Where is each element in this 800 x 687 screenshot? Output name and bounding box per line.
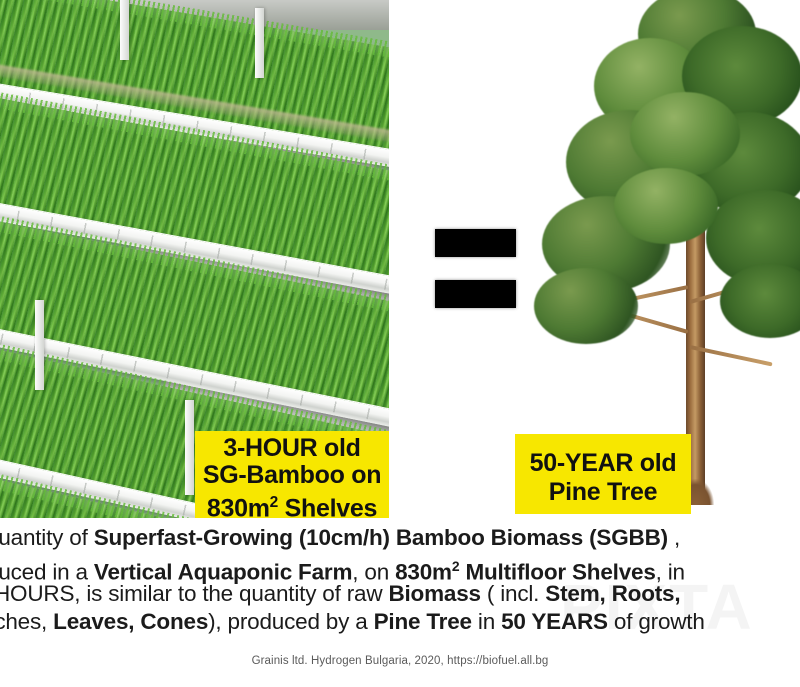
caption-l4-pre: nches, <box>0 609 53 634</box>
bamboo-callout-label: 3-HOUR old SG-Bamboo on 830m2 Shelves <box>195 431 389 518</box>
caption-line-4: nches, Leaves, Cones), produced by a Pin… <box>0 608 800 636</box>
shelf-post-2 <box>255 8 264 78</box>
caption-l4-mid-2: in <box>472 609 501 634</box>
caption-l1-post: , <box>668 525 680 550</box>
caption-l4-post: of growth <box>608 609 705 634</box>
bamboo-label-line-3: 830m2 Shelves <box>195 489 389 522</box>
pine-foliage-bottom-left <box>534 268 638 344</box>
pine-foliage-low-center <box>614 168 718 244</box>
caption-line-2: duced in a Vertical Aquaponic Farm, on 8… <box>0 552 800 580</box>
caption-l4-bold-3: 50 YEARS <box>501 609 608 634</box>
caption-l4-mid: ), produced by a <box>208 609 373 634</box>
bamboo-area-unit: m <box>248 494 270 522</box>
pine-label-line-1: 50-YEAR old <box>515 449 691 478</box>
source-credit-line: Grainis ltd. Hydrogen Bulgaria, 2020, ht… <box>0 655 800 667</box>
pine-callout-label: 50-YEAR old Pine Tree <box>515 434 691 514</box>
equals-sign-icon <box>435 229 516 308</box>
caption-l4-bold-2: Pine Tree <box>374 609 472 634</box>
caption-line-3: HOURS, is similar to the quantity of raw… <box>0 580 800 608</box>
shelf-post-4 <box>185 400 194 495</box>
caption-l3-bold-1: Biomass <box>388 581 480 606</box>
equals-bar-bottom <box>435 280 516 308</box>
caption-l3-bold-2: Stem, Roots, <box>545 581 680 606</box>
caption-l3-pre: HOURS, is similar to the quantity of raw <box>0 581 388 606</box>
caption-paragraph: quantity of Superfast-Growing (10cm/h) B… <box>0 524 800 636</box>
bamboo-area-value: 830 <box>207 494 248 522</box>
caption-l3-mid: ( incl. <box>481 581 545 606</box>
bamboo-label-line-1: 3-HOUR old <box>195 435 389 462</box>
caption-line-1: quantity of Superfast-Growing (10cm/h) B… <box>0 524 800 552</box>
shelf-post-3 <box>35 300 44 390</box>
bamboo-area-tail: Shelves <box>278 494 377 522</box>
shelf-post-1 <box>120 0 129 60</box>
caption-l1-pre: quantity of <box>0 525 94 550</box>
caption-l4-bold-1: Leaves, Cones <box>53 609 208 634</box>
caption-l1-bold-1: Superfast-Growing (10cm/h) Bamboo Biomas… <box>94 525 668 550</box>
pine-foliage-mid-center <box>630 92 740 176</box>
bamboo-area-exponent: 2 <box>270 494 278 511</box>
equals-bar-top <box>435 229 516 257</box>
pine-label-line-2: Pine Tree <box>515 478 691 507</box>
bamboo-label-line-2: SG-Bamboo on <box>195 462 389 489</box>
